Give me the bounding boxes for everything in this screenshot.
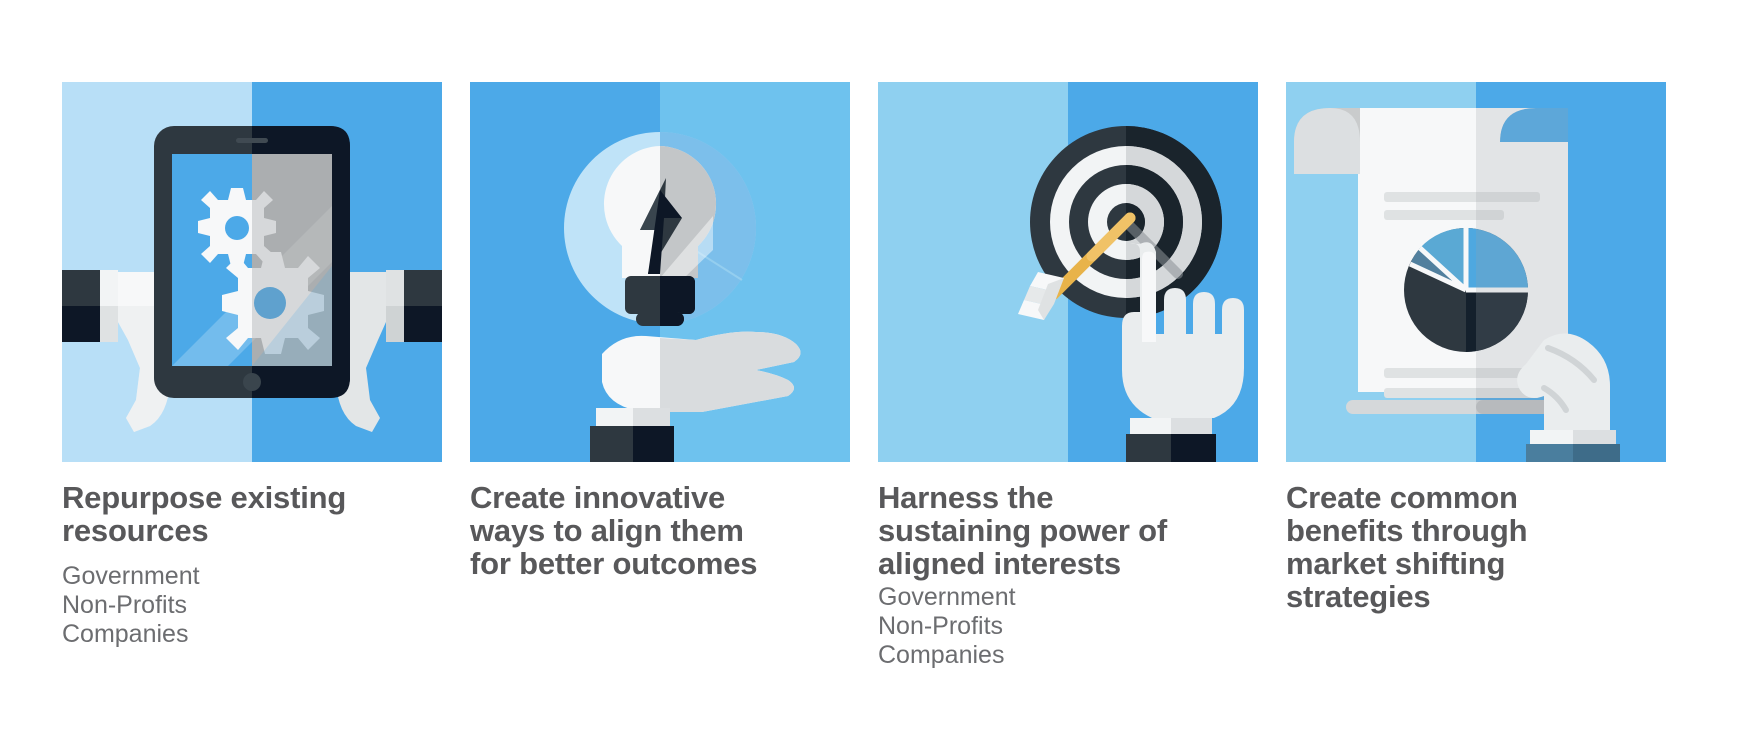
list-item: Companies bbox=[878, 641, 1258, 670]
panel-headline: Repurpose existing resources bbox=[62, 482, 442, 548]
panel-create-innovative-ways[interactable]: Create innovative ways to align them for… bbox=[470, 82, 850, 670]
tablet-gears-hands-icon bbox=[62, 82, 442, 462]
panel-headline: Create common benefits through market sh… bbox=[1286, 482, 1666, 613]
panel-create-common-benefits[interactable]: Create common benefits through market sh… bbox=[1286, 82, 1666, 670]
panel-repurpose-existing-resources[interactable]: Repurpose existing resources Government … bbox=[62, 82, 442, 670]
list-item: Companies bbox=[62, 620, 442, 649]
panel-headline: Harness the sustaining power of aligned … bbox=[878, 482, 1258, 581]
illustration-scroll-piechart-hand bbox=[1286, 82, 1666, 462]
list-item: Non-Profits bbox=[878, 612, 1258, 641]
illustration-lightbulb-hand bbox=[470, 82, 850, 462]
caption-block: Create innovative ways to align them for… bbox=[470, 462, 850, 581]
panel-item-list: Government Non-Profits Companies bbox=[878, 583, 1258, 670]
list-item: Government bbox=[878, 583, 1258, 612]
caption-block: Create common benefits through market sh… bbox=[1286, 462, 1666, 613]
infographic-board: Repurpose existing resources Government … bbox=[0, 0, 1750, 744]
illustration-target-arrow-hand bbox=[878, 82, 1258, 462]
caption-block: Repurpose existing resources Government … bbox=[62, 462, 442, 649]
target-arrow-hand-icon bbox=[878, 82, 1258, 462]
panel-headline: Create innovative ways to align them for… bbox=[470, 482, 850, 581]
caption-block: Harness the sustaining power of aligned … bbox=[878, 462, 1258, 670]
list-item: Non-Profits bbox=[62, 591, 442, 620]
panel-row: Repurpose existing resources Government … bbox=[62, 82, 1682, 670]
panel-harness-sustaining-power[interactable]: Harness the sustaining power of aligned … bbox=[878, 82, 1258, 670]
scroll-piechart-hand-icon bbox=[1286, 82, 1666, 462]
illustration-tablet-gears-hands bbox=[62, 82, 442, 462]
panel-item-list: Government Non-Profits Companies bbox=[62, 562, 442, 649]
list-item: Government bbox=[62, 562, 442, 591]
lightbulb-hand-icon bbox=[470, 82, 850, 462]
